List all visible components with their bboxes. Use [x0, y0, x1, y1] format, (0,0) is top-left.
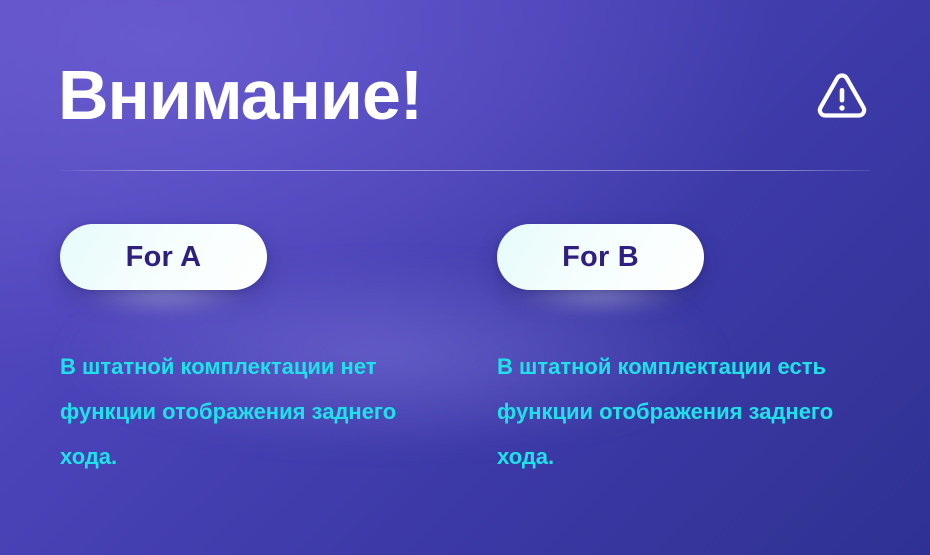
header-divider: [60, 170, 870, 171]
slide-header: Внимание!: [58, 52, 872, 138]
option-b-description: В штатной комплектации есть функции отоб…: [497, 344, 872, 479]
for-b-button[interactable]: For B: [497, 224, 704, 290]
option-a-description: В штатной комплектации нет функции отобр…: [60, 344, 440, 479]
options-columns: For A В штатной комплектации нет функции…: [60, 224, 872, 479]
option-column-a: For A В штатной комплектации нет функции…: [60, 224, 497, 479]
warning-slide: Внимание! For A В штатной комплектации н…: [0, 0, 930, 555]
page-title: Внимание!: [58, 60, 422, 130]
warning-triangle-icon: [814, 67, 870, 123]
for-b-button-wrap: For B: [497, 224, 704, 290]
option-column-b: For B В штатной комплектации есть функци…: [497, 224, 872, 479]
for-a-button-wrap: For A: [60, 224, 267, 290]
for-a-button[interactable]: For A: [60, 224, 267, 290]
